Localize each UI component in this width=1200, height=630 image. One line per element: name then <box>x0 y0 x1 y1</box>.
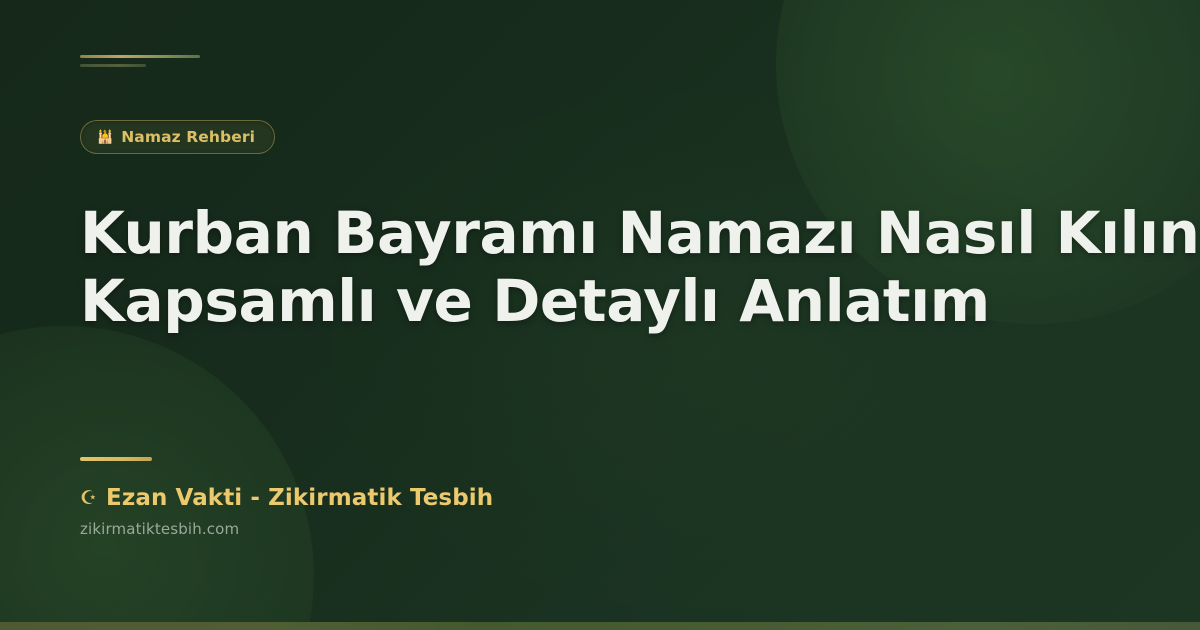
page-title-line-2: Kapsamlı ve Detaylı Anlatım <box>80 268 1170 334</box>
category-badge[interactable]: 🕌 Namaz Rehberi <box>80 120 275 154</box>
top-decorative-rules <box>80 55 200 73</box>
page-title-line-1: Kurban Bayramı Namazı Nasıl Kılınır? <box>80 200 1170 266</box>
mosque-icon: 🕌 <box>97 131 113 144</box>
footer-divider <box>80 457 152 461</box>
star-and-crescent-icon: ☪ <box>80 489 97 508</box>
category-badge-label: Namaz Rehberi <box>121 128 255 146</box>
top-rule-long <box>80 55 200 58</box>
site-brand[interactable]: ☪ Ezan Vakti - Zikirmatik Tesbih <box>80 485 493 511</box>
footer-block: ☪ Ezan Vakti - Zikirmatik Tesbih zikirma… <box>80 457 493 538</box>
site-url: zikirmatiktesbih.com <box>80 520 493 538</box>
top-rule-short <box>80 64 146 67</box>
og-card-canvas: 🕌 Namaz Rehberi Kurban Bayramı Namazı Na… <box>0 0 1200 630</box>
page-title: Kurban Bayramı Namazı Nasıl Kılınır? Kap… <box>80 200 1170 334</box>
site-brand-name: Ezan Vakti - Zikirmatik Tesbih <box>106 485 493 511</box>
bottom-accent-strip <box>0 622 1200 630</box>
